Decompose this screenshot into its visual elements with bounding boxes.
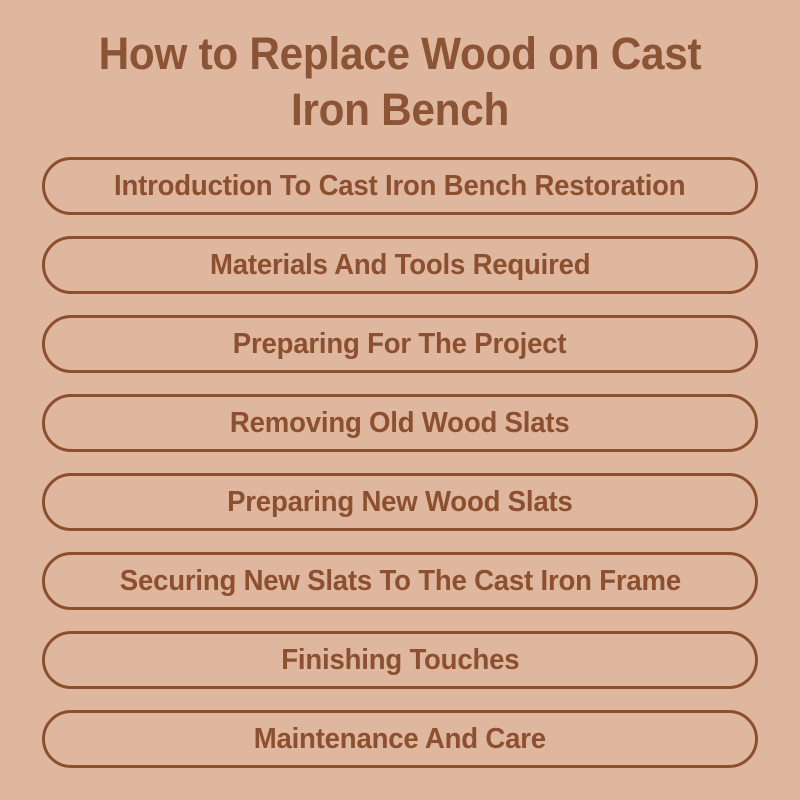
toc-item-securing-new-slats-to-the-cast-iron-frame[interactable]: Securing New Slats To The Cast Iron Fram… <box>42 552 758 610</box>
page-title: How to Replace Wood on Cast Iron Bench <box>71 26 729 138</box>
toc-item-label: Securing New Slats To The Cast Iron Fram… <box>119 566 680 596</box>
toc-item-materials-and-tools-required[interactable]: Materials And Tools Required <box>42 236 758 294</box>
toc-item-introduction-to-cast-iron-bench-restoration[interactable]: Introduction To Cast Iron Bench Restorat… <box>42 157 758 215</box>
toc-item-maintenance-and-care[interactable]: Maintenance And Care <box>42 710 758 768</box>
toc-item-preparing-for-the-project[interactable]: Preparing For The Project <box>42 315 758 373</box>
infographic-root: How to Replace Wood on Cast Iron Bench I… <box>0 0 800 800</box>
toc-item-label: Removing Old Wood Slats <box>230 408 570 438</box>
toc-item-preparing-new-wood-slats[interactable]: Preparing New Wood Slats <box>42 473 758 531</box>
toc-item-label: Preparing New Wood Slats <box>227 487 573 517</box>
toc-item-label: Maintenance And Care <box>254 724 546 754</box>
toc-item-label: Introduction To Cast Iron Bench Restorat… <box>114 171 685 201</box>
toc-item-label: Materials And Tools Required <box>210 250 590 280</box>
toc-item-label: Finishing Touches <box>281 645 519 675</box>
toc-item-label: Preparing For The Project <box>233 329 567 359</box>
toc-item-removing-old-wood-slats[interactable]: Removing Old Wood Slats <box>42 394 758 452</box>
toc-item-finishing-touches[interactable]: Finishing Touches <box>42 631 758 689</box>
table-of-contents-list: Introduction To Cast Iron Bench Restorat… <box>42 157 758 768</box>
